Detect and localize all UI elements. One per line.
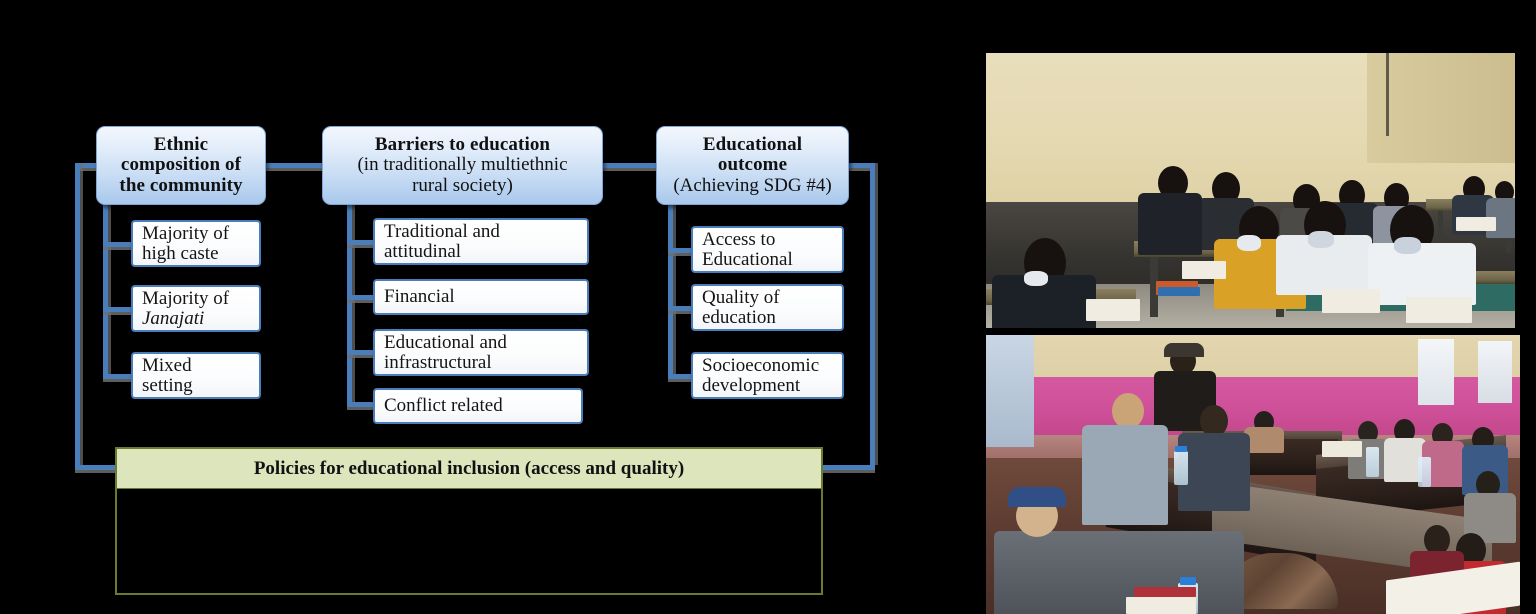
meeting-participant-body	[1244, 427, 1284, 453]
connector-col1-col2	[265, 163, 325, 168]
meeting-notebook-red	[1134, 587, 1196, 597]
classroom-notebook	[1406, 297, 1472, 323]
leaf-line1: Financial	[384, 287, 455, 307]
policy-bar[interactable]: Policies for educational inclusion (acce…	[117, 449, 821, 489]
meeting-participant-head	[1112, 393, 1144, 429]
classroom-student-body-foreground	[1368, 243, 1476, 305]
leaf-line1: Majority of	[142, 224, 229, 244]
leaf-line2: setting	[142, 376, 193, 396]
leaf-line1: Socioeconomic	[702, 356, 819, 376]
meeting-participant-cap-blue	[1008, 487, 1066, 507]
header-title-line1: Educational	[703, 135, 802, 155]
leaf-line1: Educational and	[384, 333, 507, 353]
connector-col3-spine	[668, 200, 673, 378]
meeting-participant-body	[1082, 425, 1168, 525]
classroom-student-body	[1138, 193, 1202, 255]
meeting-papers	[1126, 597, 1196, 614]
leaf-box-socioeconomic-development[interactable]: Socioeconomic development	[691, 352, 844, 399]
connector-col1-branch-3	[103, 374, 133, 379]
header-title-line1: Ethnic composition of	[103, 135, 259, 175]
connector-col3-branch-3	[668, 374, 693, 379]
header-title-line2: the community	[119, 176, 242, 196]
meeting-participant-body-foreground	[994, 531, 1244, 614]
connector-right-bottom-stub	[818, 465, 875, 470]
leaf-line2-italic: Janajati	[142, 309, 229, 329]
classroom-face-mask	[1024, 271, 1048, 286]
classroom-notebook	[1456, 217, 1496, 231]
leaf-box-mixed-setting[interactable]: Mixed setting	[131, 352, 261, 399]
leaf-box-traditional-attitudinal[interactable]: Traditional and attitudinal	[373, 218, 589, 265]
connector-col2-col3	[601, 163, 658, 168]
leaf-box-quality-of-education[interactable]: Quality of education	[691, 284, 844, 331]
leaf-box-majority-janajati[interactable]: Majority of Janajati	[131, 285, 261, 332]
classroom-window-frame	[1386, 53, 1389, 136]
leaf-line2: high caste	[142, 244, 229, 264]
connector-col2-branch-2	[347, 295, 375, 300]
classroom-face-mask	[1237, 235, 1261, 251]
leaf-line1: Mixed	[142, 356, 193, 376]
meeting-window	[1418, 339, 1454, 405]
connector-col3-branch-1	[668, 248, 693, 253]
connector-col1-branch-1	[103, 242, 133, 247]
policy-container: Policies for educational inclusion (acce…	[115, 447, 823, 595]
leaf-box-majority-high-caste[interactable]: Majority of high caste	[131, 220, 261, 267]
meeting-water-bottle	[1418, 457, 1431, 487]
header-box-ethnic-composition[interactable]: Ethnic composition of the community	[96, 126, 266, 205]
photo-classroom	[986, 53, 1515, 328]
classroom-notebook	[1322, 289, 1380, 313]
leaf-line2: infrastructural	[384, 353, 507, 373]
meeting-participant-body	[1178, 433, 1250, 511]
leaf-line2: Educational	[702, 250, 793, 270]
meeting-papers	[1322, 441, 1362, 457]
header-title-line2: outcome	[718, 155, 787, 175]
classroom-notebook	[1182, 261, 1226, 279]
leaf-box-conflict-related[interactable]: Conflict related	[373, 388, 583, 424]
header-subtitle-line2: rural society)	[412, 176, 513, 196]
leaf-line1: Conflict related	[384, 396, 503, 416]
leaf-box-educational-infrastructural[interactable]: Educational and infrastructural	[373, 329, 589, 376]
classroom-wall-right	[1367, 53, 1515, 163]
meeting-window	[1478, 341, 1512, 403]
meeting-left-wall	[986, 335, 1034, 447]
connector-left-vertical	[75, 163, 80, 465]
meeting-bottle-cap	[1175, 446, 1187, 452]
classroom-face-mask	[1308, 231, 1334, 248]
leaf-line2: development	[702, 376, 819, 396]
classroom-book-colored	[1158, 287, 1200, 296]
connector-col1-branch-2	[103, 307, 133, 312]
leaf-line1: Access to	[702, 230, 793, 250]
photo-community-meeting	[986, 335, 1520, 614]
connector-col2-branch-1	[347, 240, 375, 245]
header-subtitle-line1: (in traditionally multiethnic	[357, 155, 567, 175]
leaf-box-access-to-educational[interactable]: Access to Educational	[691, 226, 844, 273]
connector-col1-spine	[103, 200, 108, 378]
classroom-face-mask	[1394, 237, 1421, 254]
leaf-line1: Quality of	[702, 288, 780, 308]
header-subtitle: (Achieving SDG #4)	[673, 176, 831, 196]
policy-bar-label: Policies for educational inclusion (acce…	[254, 458, 684, 480]
classroom-notebook	[1086, 299, 1140, 321]
meeting-water-bottle	[1174, 451, 1188, 485]
connector-col2-branch-3	[347, 350, 375, 355]
connector-left-bottom-stub	[75, 465, 119, 470]
slide-canvas: Ethnic composition of the community Majo…	[0, 0, 1536, 614]
leaf-line2: attitudinal	[384, 242, 500, 262]
meeting-participant-cap	[1164, 343, 1204, 357]
leaf-line1: Traditional and	[384, 222, 500, 242]
meeting-bottle-cap	[1180, 577, 1196, 585]
connector-col2-branch-4	[347, 402, 375, 407]
leaf-line2: education	[702, 308, 780, 328]
header-box-barriers-to-education[interactable]: Barriers to education (in traditionally …	[322, 126, 603, 205]
leaf-line1: Majority of	[142, 289, 229, 309]
header-title: Barriers to education	[375, 135, 550, 155]
leaf-box-financial[interactable]: Financial	[373, 279, 589, 315]
connector-col3-branch-2	[668, 306, 693, 311]
connector-right-vertical	[870, 163, 875, 465]
header-box-educational-outcome[interactable]: Educational outcome (Achieving SDG #4)	[656, 126, 849, 205]
meeting-water-bottle	[1366, 447, 1379, 477]
